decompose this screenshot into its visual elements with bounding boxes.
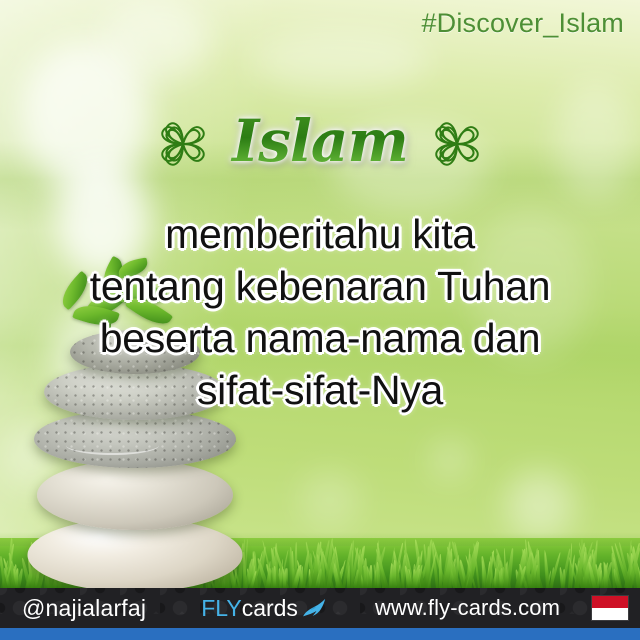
hashtag-label: #Discover_Islam xyxy=(421,8,624,39)
quote-line: tentang kebenaran Tuhan xyxy=(0,260,640,312)
quote-body: memberitahu kita tentang kebenaran Tuhan… xyxy=(0,208,640,416)
indonesia-flag-icon xyxy=(592,596,628,620)
page-title: Islam xyxy=(228,112,412,176)
bottom-blue-bar xyxy=(0,628,640,640)
quote-line: sifat-sifat-Nya xyxy=(0,364,640,416)
celtic-knot-flourish-icon-left xyxy=(152,113,214,175)
flycards-logo[interactable]: FLY cards xyxy=(201,595,327,622)
bokeh-light-11 xyxy=(300,470,360,530)
brand-secondary-text: cards xyxy=(242,595,298,622)
brand-primary-text: FLY xyxy=(201,595,241,622)
footer-content: @najialarfaj FLY cards www.fly-cards.com xyxy=(0,588,640,628)
quote-line: memberitahu kita xyxy=(0,208,640,260)
islam-quote-card: #Discover_Islam Islam xyxy=(0,0,640,640)
bokeh-light-4 xyxy=(100,0,210,80)
celtic-knot-flourish-icon-right xyxy=(426,113,488,175)
title-row: Islam xyxy=(0,112,640,176)
stone-fourth xyxy=(37,460,233,530)
footer-bar: @najialarfaj FLY cards www.fly-cards.com xyxy=(0,588,640,628)
quote-line: beserta nama-nama dan xyxy=(0,312,640,364)
bokeh-light-6 xyxy=(430,440,470,480)
bird-icon xyxy=(300,598,327,618)
bokeh-light-7 xyxy=(250,30,430,90)
author-handle[interactable]: @najialarfaj xyxy=(22,595,146,622)
bokeh-light-5 xyxy=(505,470,575,540)
flag-stripe-red xyxy=(592,596,628,608)
flag-stripe-white xyxy=(592,608,628,620)
website-url[interactable]: www.fly-cards.com xyxy=(375,595,560,621)
